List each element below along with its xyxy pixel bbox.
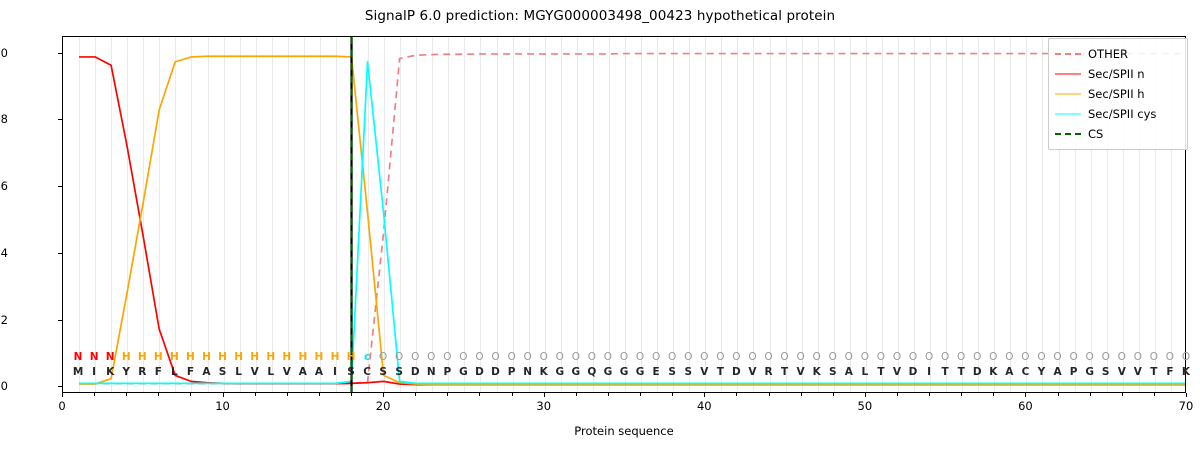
region-annotation-letter: O [443,351,451,363]
residue-letter: S [1102,366,1110,378]
x-tick-minor [1090,393,1091,396]
x-tick-mark [62,393,63,397]
region-annotation-letter: O [861,351,869,363]
residue-letter: T [958,366,965,378]
region-annotation-letter: O [877,351,885,363]
region-annotation-letter: O [636,351,644,363]
residue-letter: S [379,366,387,378]
residue-letter: D [732,366,741,378]
region-annotation-letter: O [652,351,660,363]
region-annotation-letter: O [764,351,772,363]
region-annotation-letter: O [909,351,917,363]
x-tick-minor [255,393,256,396]
legend-label: CS [1088,127,1103,141]
region-annotation-letter: O [829,351,837,363]
residue-letter: L [267,366,274,378]
region-annotation-letter: O [893,351,901,363]
x-tick-minor [158,393,159,396]
residue-letter: V [893,366,901,378]
region-annotation-letter: H [282,351,291,363]
residue-letter: K [1182,366,1190,378]
region-annotation-letter: O [540,351,548,363]
x-tick-minor [287,393,288,396]
residue-letter: S [668,366,676,378]
x-tick-label: 50 [858,399,873,413]
region-annotation-letter: O [1134,351,1142,363]
region-annotation-letter: H [347,351,356,363]
residue-letter: P [444,366,452,378]
y-tick-label: 1.0 [0,46,8,60]
y-tick-label: 0.2 [0,313,8,327]
residue-letter: F [1166,366,1173,378]
x-tick-minor [94,393,95,396]
region-annotation-letter: O [1021,351,1029,363]
residue-letter: T [717,366,724,378]
region-annotation-letter: O [604,351,612,363]
x-tick-minor [447,393,448,396]
residue-letter: G [555,366,564,378]
x-tick-minor [993,393,994,396]
residue-letter: F [155,366,162,378]
x-tick-mark [704,393,705,397]
x-tick-minor [672,393,673,396]
y-tick-mark [58,119,63,120]
plot-area [62,36,1186,393]
region-annotation-letter: N [74,351,83,363]
region-annotation-letter: H [122,351,131,363]
residue-letter: K [540,366,548,378]
residue-letter: D [909,366,918,378]
legend-label: Sec/SPII n [1088,67,1145,81]
residue-letter: S [829,366,837,378]
residue-letter: P [1070,366,1078,378]
x-tick-minor [415,393,416,396]
x-tick-minor [1122,393,1123,396]
residue-letter: G [1085,366,1094,378]
residue-letter: F [187,366,194,378]
region-annotation-letter: H [218,351,227,363]
legend-swatch-icon [1055,88,1081,100]
region-annotation-letter: O [1102,351,1110,363]
region-annotation-letter: O [588,351,596,363]
legend-item-other[interactable]: OTHER [1055,44,1181,64]
residue-letter: Y [122,366,130,378]
residue-letter: C [1022,366,1030,378]
region-annotation-letter: O [845,351,853,363]
region-annotation-letter: O [379,351,387,363]
residue-letter: G [636,366,645,378]
residue-letter: M [73,366,83,378]
legend-label: OTHER [1088,47,1128,61]
region-annotation-letter: H [170,351,179,363]
residue-letter: T [942,366,949,378]
curve-sec-spii-n [79,57,1185,385]
residue-letter: R [764,366,772,378]
y-tick-label: 0.0 [0,379,8,393]
region-annotation-letter: O [524,351,532,363]
residue-letter: K [813,366,821,378]
curve-other [79,54,1185,384]
x-tick-minor [801,393,802,396]
x-tick-minor [126,393,127,396]
region-annotation-letter: O [1166,351,1174,363]
region-annotation-letter: O [1118,351,1126,363]
x-tick-mark [383,393,384,397]
x-tick-minor [479,393,480,396]
residue-letter: S [395,366,403,378]
x-tick-minor [769,393,770,396]
y-tick-label: 0.4 [0,246,8,260]
residue-letter: N [427,366,436,378]
x-tick-minor [319,393,320,396]
plot-inner [63,37,1185,392]
signalp-prediction-figure: SignalP 6.0 prediction: MGYG000003498_00… [0,0,1200,450]
region-annotation-letter: O [796,351,804,363]
legend-label: Sec/SPII cys [1088,107,1156,121]
x-tick-minor [961,393,962,396]
region-annotation-letter: O [957,351,965,363]
region-annotation-letter: O [459,351,467,363]
residue-letter: Y [1038,366,1046,378]
x-tick-minor [929,393,930,396]
region-annotation-letter: H [298,351,307,363]
region-annotation-letter: H [266,351,275,363]
x-tick-mark [223,393,224,397]
x-tick-label: 20 [376,399,391,413]
x-tick-minor [190,393,191,396]
x-tick-label: 40 [697,399,712,413]
residue-letter: D [475,366,484,378]
region-annotation-letter: O [556,351,564,363]
region-annotation-letter: O [411,351,419,363]
legend-item-sec-spii-n[interactable]: Sec/SPII n [1055,64,1181,84]
x-tick-minor [736,393,737,396]
y-tick-label: 0.6 [0,179,8,193]
region-annotation-letter: H [186,351,195,363]
x-tick-mark [1186,393,1187,397]
region-annotation-letter: O [1150,351,1158,363]
residue-letter: A [299,366,307,378]
residue-letter: T [781,366,788,378]
residue-letter: V [1134,366,1142,378]
x-tick-minor [1154,393,1155,396]
residue-letter: N [523,366,532,378]
page-title: SignalP 6.0 prediction: MGYG000003498_00… [0,8,1200,24]
region-annotation-letter: H [202,351,211,363]
region-annotation-letter: O [1053,351,1061,363]
x-tick-minor [833,393,834,396]
region-annotation-letter: c [364,351,370,363]
residue-letter: V [1118,366,1126,378]
residue-letter: D [491,366,500,378]
residue-letter: G [604,366,613,378]
residue-letter: A [202,366,210,378]
region-annotation-letter: O [427,351,435,363]
region-annotation-letter: H [250,351,259,363]
y-tick-mark [58,53,63,54]
curve-layer [63,37,1185,392]
residue-letter: A [1053,366,1061,378]
region-annotation-letter: O [491,351,499,363]
x-tick-minor [512,393,513,396]
region-annotation-letter: O [748,351,756,363]
region-annotation-letter: O [925,351,933,363]
x-tick-label: 70 [1179,399,1194,413]
legend-swatch-icon [1055,128,1081,140]
x-tick-mark [1025,393,1026,397]
x-tick-minor [897,393,898,396]
residue-letter: T [877,366,884,378]
residue-letter: G [572,366,581,378]
residue-letter: A [845,366,853,378]
x-axis-label: Protein sequence [574,424,673,438]
region-annotation-letter: O [668,351,676,363]
region-annotation-letter: O [475,351,483,363]
residue-letter: V [797,366,805,378]
region-annotation-letter: H [138,351,147,363]
residue-letter: L [171,366,178,378]
residue-letter: K [106,366,114,378]
region-annotation-letter: H [154,351,163,363]
residue-letter: L [862,366,869,378]
region-annotation-letter: H [315,351,324,363]
residue-letter: D [411,366,420,378]
x-tick-label: 30 [536,399,551,413]
x-tick-mark [544,393,545,397]
residue-letter: V [283,366,291,378]
region-annotation-letter: N [90,351,99,363]
region-annotation-letter: H [331,351,340,363]
residue-letter: A [315,366,323,378]
legend-swatch-icon [1055,48,1081,60]
residue-letter: S [347,366,355,378]
residue-letter: V [700,366,708,378]
residue-letter: R [138,366,146,378]
legend-swatch-icon [1055,68,1081,80]
region-annotation-letter: O [780,351,788,363]
y-tick-mark [58,386,63,387]
region-annotation-letter: O [989,351,997,363]
residue-letter: I [927,366,931,378]
region-annotation-letter: H [234,351,243,363]
residue-letter: G [620,366,629,378]
curve-sec-spii-h [79,56,1185,384]
y-tick-label: 0.8 [0,112,8,126]
y-tick-mark [58,320,63,321]
residue-letter: D [973,366,982,378]
residue-letter: V [251,366,259,378]
residue-letter: E [653,366,660,378]
residue-letter: I [92,366,96,378]
residue-letter: P [508,366,516,378]
residue-letter: L [235,366,242,378]
y-tick-mark [58,253,63,254]
residue-letter: I [333,366,337,378]
x-tick-minor [351,393,352,396]
x-tick-minor [640,393,641,396]
x-tick-minor [608,393,609,396]
residue-letter: G [459,366,468,378]
y-tick-mark [58,186,63,187]
region-annotation-letter: O [620,351,628,363]
legend-label: Sec/SPII h [1088,87,1145,101]
legend-item-cs[interactable]: CS [1055,124,1181,144]
legend-item-sec-spii-cys[interactable]: Sec/SPII cys [1055,104,1181,124]
region-annotation-letter: O [1005,351,1013,363]
residue-letter: A [1005,366,1013,378]
region-annotation-letter: O [1086,351,1094,363]
x-tick-label: 60 [1018,399,1033,413]
region-annotation-letter: O [1182,351,1190,363]
region-annotation-letter: O [941,351,949,363]
residue-letter: S [219,366,227,378]
residue-letter: S [684,366,692,378]
residue-letter: Q [587,366,596,378]
legend-swatch-icon [1055,108,1081,120]
residue-letter: V [748,366,756,378]
region-annotation-letter: O [973,351,981,363]
region-annotation-letter: O [395,351,403,363]
region-annotation-letter: O [813,351,821,363]
region-annotation-letter: O [716,351,724,363]
region-annotation-letter: O [732,351,740,363]
x-tick-mark [865,393,866,397]
legend-item-sec-spii-h[interactable]: Sec/SPII h [1055,84,1181,104]
region-annotation-letter: N [106,351,115,363]
residue-letter: K [989,366,997,378]
residue-letter: C [363,366,371,378]
region-annotation-letter: O [1037,351,1045,363]
region-annotation-letter: O [700,351,708,363]
region-annotation-letter: O [684,351,692,363]
legend: OTHERSec/SPII nSec/SPII hSec/SPII cysCS [1048,38,1188,150]
residue-letter: T [1150,366,1157,378]
region-annotation-letter: O [507,351,515,363]
x-tick-label: 10 [215,399,230,413]
x-tick-minor [1058,393,1059,396]
x-tick-label: 0 [58,399,65,413]
x-tick-minor [576,393,577,396]
region-annotation-letter: O [572,351,580,363]
region-annotation-letter: O [1069,351,1077,363]
curve-sec-spii-cys [79,62,1185,383]
